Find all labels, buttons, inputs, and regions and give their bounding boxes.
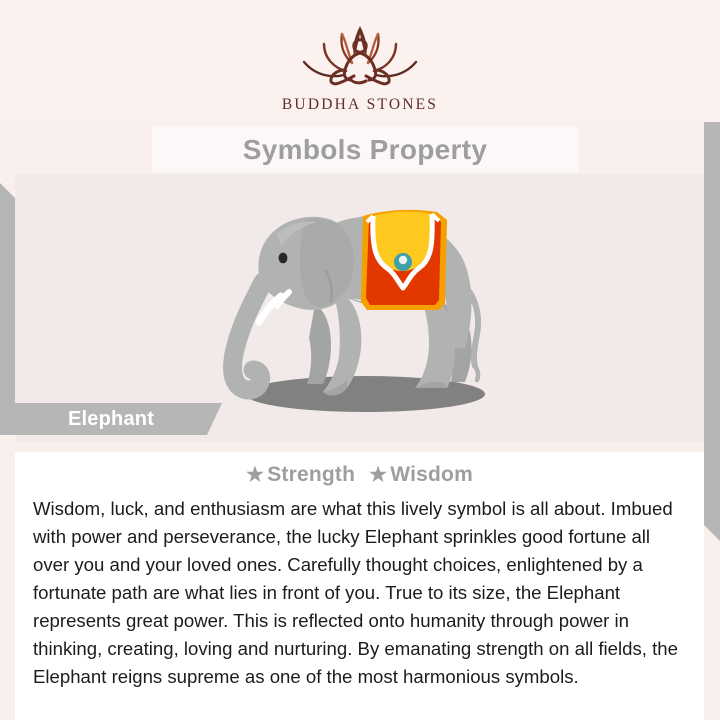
symbol-label: Elephant bbox=[68, 408, 154, 431]
virtue-wisdom: Wisdom bbox=[390, 463, 473, 486]
illustration-stage bbox=[15, 174, 704, 442]
page-title-banner: Symbols Property bbox=[152, 126, 578, 173]
elephant-saddle-blanket bbox=[361, 210, 447, 310]
frame-band-left bbox=[0, 183, 15, 434]
brand-logo: BUDDHA STONES bbox=[0, 20, 720, 114]
star-icon: ★ bbox=[369, 464, 387, 486]
virtues-row: ★Strength★Wisdom bbox=[15, 462, 704, 487]
infographic-page: BUDDHA STONES Symbols Property bbox=[0, 0, 720, 720]
star-icon: ★ bbox=[246, 464, 264, 486]
brand-name: BUDDHA STONES bbox=[0, 96, 720, 114]
brand-header: BUDDHA STONES bbox=[0, 0, 720, 122]
description-card: ★Strength★Wisdom Wisdom, luck, and enthu… bbox=[15, 452, 704, 720]
page-title: Symbols Property bbox=[243, 134, 487, 166]
description-paragraph: Wisdom, luck, and enthusiasm are what th… bbox=[33, 495, 686, 691]
lotus-meditation-icon bbox=[284, 20, 436, 94]
walking-elephant-illustration bbox=[197, 186, 527, 418]
symbol-label-banner: Elephant bbox=[0, 403, 240, 435]
elephant-eye bbox=[279, 253, 288, 264]
virtue-strength: Strength bbox=[267, 463, 355, 486]
